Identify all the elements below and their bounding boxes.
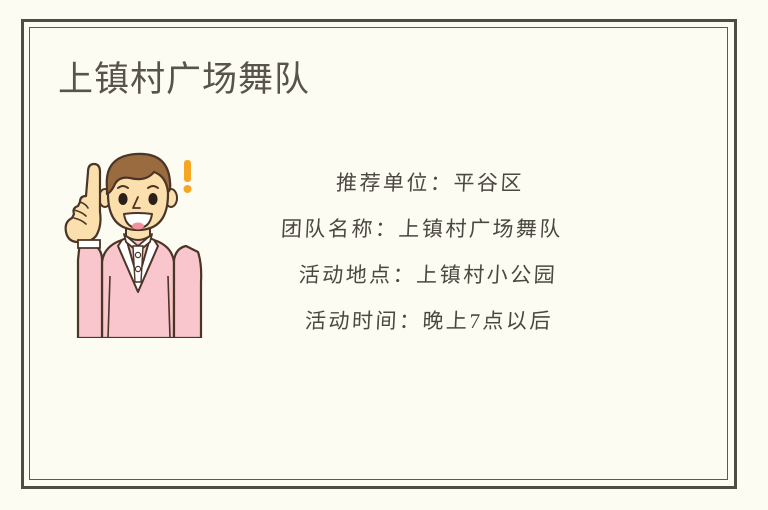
- shirt-button-top: [135, 252, 140, 257]
- info-line-team-name: 团队名称：上镇村广场舞队: [221, 206, 623, 252]
- exclamation-icon-dot: [184, 185, 192, 193]
- eye-left: [118, 193, 127, 205]
- tongue: [132, 223, 144, 230]
- shirt-placket: [133, 246, 143, 282]
- info-line-activity-time: 活动时间：晚上7点以后: [221, 298, 623, 344]
- sweater-right-sleeve: [174, 246, 201, 338]
- activity-info-list: 推荐单位：平谷区 团队名称：上镇村广场舞队 活动地点：上镇村小公园 活动时间：晚…: [222, 160, 622, 344]
- poster-canvas: 上镇村广场舞队: [0, 0, 768, 510]
- info-line-activity-location: 活动地点：上镇村小公园: [221, 252, 623, 298]
- wrist-cuff: [78, 240, 100, 248]
- sweater-left-sleeve: [78, 241, 102, 338]
- page-title: 上镇村广场舞队: [58, 58, 310, 102]
- eye-right: [148, 193, 157, 205]
- info-line-recommending-unit: 推荐单位：平谷区: [221, 160, 623, 206]
- exclamation-icon-stem: [184, 160, 191, 182]
- shirt-button-bottom: [135, 266, 140, 271]
- pointing-man-illustration: [58, 142, 218, 338]
